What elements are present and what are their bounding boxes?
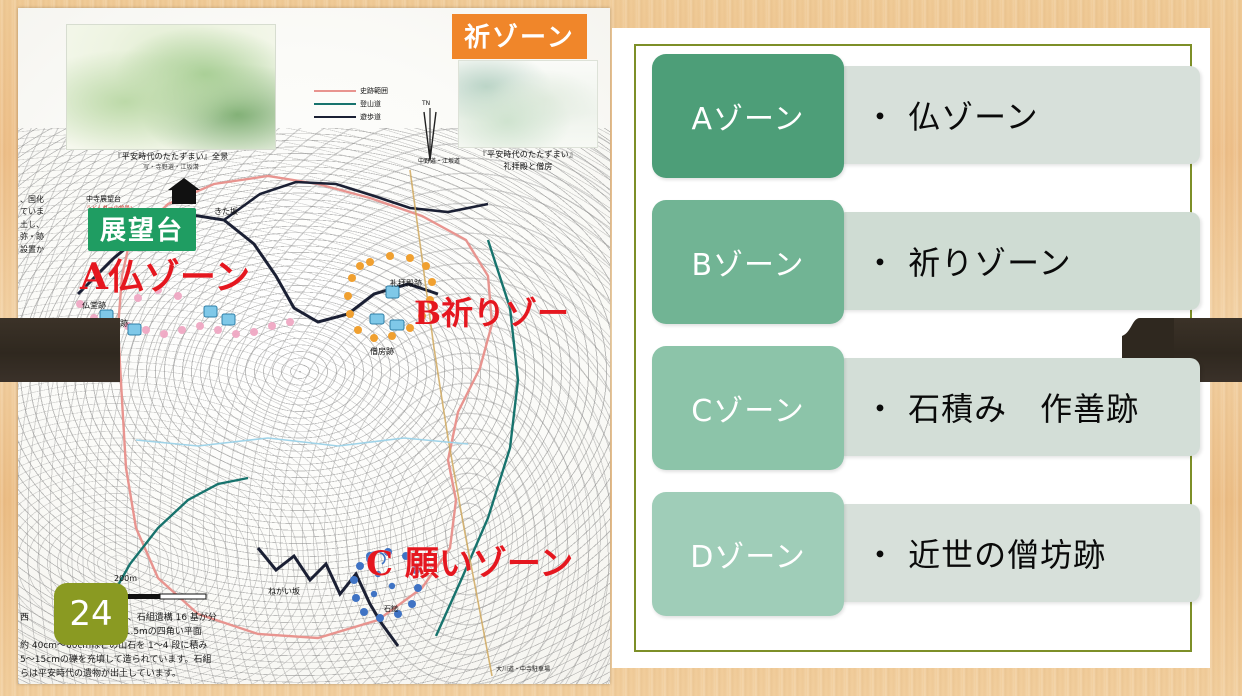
zone-desc-a: ・ 仏ゾーン xyxy=(836,66,1200,164)
site-label-butsudou: 仏堂跡 xyxy=(82,300,106,311)
site-label-tou: 塔跡 xyxy=(112,318,128,329)
legend-item-trail: 登山道 xyxy=(314,99,388,109)
slide: 『平安時代のたたずまい』全景 写・寺野選・江坂溝 『平安時代のたたずまい』 礼拝… xyxy=(0,0,1242,696)
zone-chip-c[interactable]: Cゾーン xyxy=(652,346,844,470)
inset-worshiphall-thumb xyxy=(458,60,598,148)
zone-chip-a[interactable]: Aゾーン xyxy=(652,54,844,178)
scale-label: 200m xyxy=(114,574,137,583)
legend-label-boundary: 史跡範囲 xyxy=(360,86,388,96)
map-zone-label-b: B祈りゾー xyxy=(414,288,569,334)
legend-label-trail: 登山道 xyxy=(360,99,381,109)
map-inset-overview: 『平安時代のたたずまい』全景 写・寺野選・江坂溝 xyxy=(66,24,276,172)
map-zone-label-c: C 願いゾーン xyxy=(366,536,573,585)
zone-desc-b: ・ 祈りゾーン xyxy=(836,212,1200,310)
zone-row-c[interactable]: Cゾーン ・ 石積み 作善跡 xyxy=(652,346,1200,470)
legend-item-boundary: 史跡範囲 xyxy=(314,86,388,96)
banner-viewpoint: 展望台 xyxy=(88,208,196,251)
map-image: 『平安時代のたたずまい』全景 写・寺野選・江坂溝 『平安時代のたたずまい』 礼拝… xyxy=(18,8,610,684)
zone-list-panel: Aゾーン ・ 仏ゾーン Bゾーン ・ 祈りゾーン Cゾーン xyxy=(612,28,1210,668)
inset-overview-subcaption: 写・寺野選・江坂溝 xyxy=(66,164,276,172)
inset-worshiphall-subcaption: 礼拝殿と僧房 xyxy=(458,162,598,172)
zone-rows: Aゾーン ・ 仏ゾーン Bゾーン ・ 祈りゾーン Cゾーン xyxy=(612,28,1210,668)
inset-overview-caption: 『平安時代のたたずまい』全景 xyxy=(66,152,276,162)
map-legend: 史跡範囲 登山道 遊歩道 xyxy=(314,86,388,125)
zone-desc-label-b: ・ 祈りゾーン xyxy=(864,238,1072,284)
site-label-ooiya: 大炊屋跡 xyxy=(42,358,74,369)
zone-chip-d[interactable]: Dゾーン xyxy=(652,492,844,616)
zone-chip-b[interactable]: Bゾーン xyxy=(652,200,844,324)
zone-desc-d: ・ 近世の僧坊跡 xyxy=(836,504,1200,602)
legend-swatch-promenade xyxy=(314,116,356,118)
site-label-negaizaka: ねがい坂 xyxy=(268,586,300,597)
compass-icon xyxy=(424,108,436,160)
legend-swatch-boundary xyxy=(314,90,356,92)
site-label-kitazaka: きた坂 xyxy=(214,206,238,217)
map-zone-label-a: A仏ゾーン xyxy=(80,248,250,300)
legend-label-promenade: 遊歩道 xyxy=(360,112,381,122)
viewpoint-icon xyxy=(168,178,200,204)
page-number: 24 xyxy=(54,583,128,645)
inset-worshiphall-caption: 『平安時代のたたずまい』 xyxy=(458,150,598,160)
site-label-soubou: 僧房跡 xyxy=(370,346,394,357)
zone-desc-label-a: ・ 仏ゾーン xyxy=(864,92,1039,138)
inset-overview-thumb xyxy=(66,24,276,150)
compass-label: TN xyxy=(422,100,430,107)
zone-chip-label-a: Aゾーン xyxy=(691,94,804,138)
site-label-nakanomichi: 中野道・江坂道 xyxy=(418,156,460,165)
site-label-ishizuchi: 石鎚 xyxy=(384,604,398,614)
banner-pray-zone: 祈ゾーン xyxy=(452,14,587,59)
map-body-text-left: 、国化 ていま 土し、 弥・跡 設置か xyxy=(20,194,44,256)
site-label-observatory: 中寺展望台 xyxy=(86,194,121,204)
zone-row-d[interactable]: Dゾーン ・ 近世の僧坊跡 xyxy=(652,492,1200,616)
site-label-parking: 大川道・中寺駐車場 xyxy=(496,664,550,673)
zone-chip-label-c: Cゾーン xyxy=(691,386,804,430)
zone-desc-c: ・ 石積み 作善跡 xyxy=(836,358,1200,456)
zone-desc-label-c: ・ 石積み 作善跡 xyxy=(864,384,1139,430)
legend-swatch-trail xyxy=(314,103,356,105)
legend-item-promenade: 遊歩道 xyxy=(314,112,388,122)
map-inset-worshiphall: 『平安時代のたたずまい』 礼拝殿と僧房 xyxy=(458,60,598,172)
zone-row-a[interactable]: Aゾーン ・ 仏ゾーン xyxy=(652,54,1200,178)
zone-desc-label-d: ・ 近世の僧坊跡 xyxy=(864,530,1106,576)
zone-chip-label-d: Dゾーン xyxy=(690,532,806,576)
zone-row-b[interactable]: Bゾーン ・ 祈りゾーン xyxy=(652,200,1200,324)
zone-chip-label-b: Bゾーン xyxy=(691,240,804,284)
